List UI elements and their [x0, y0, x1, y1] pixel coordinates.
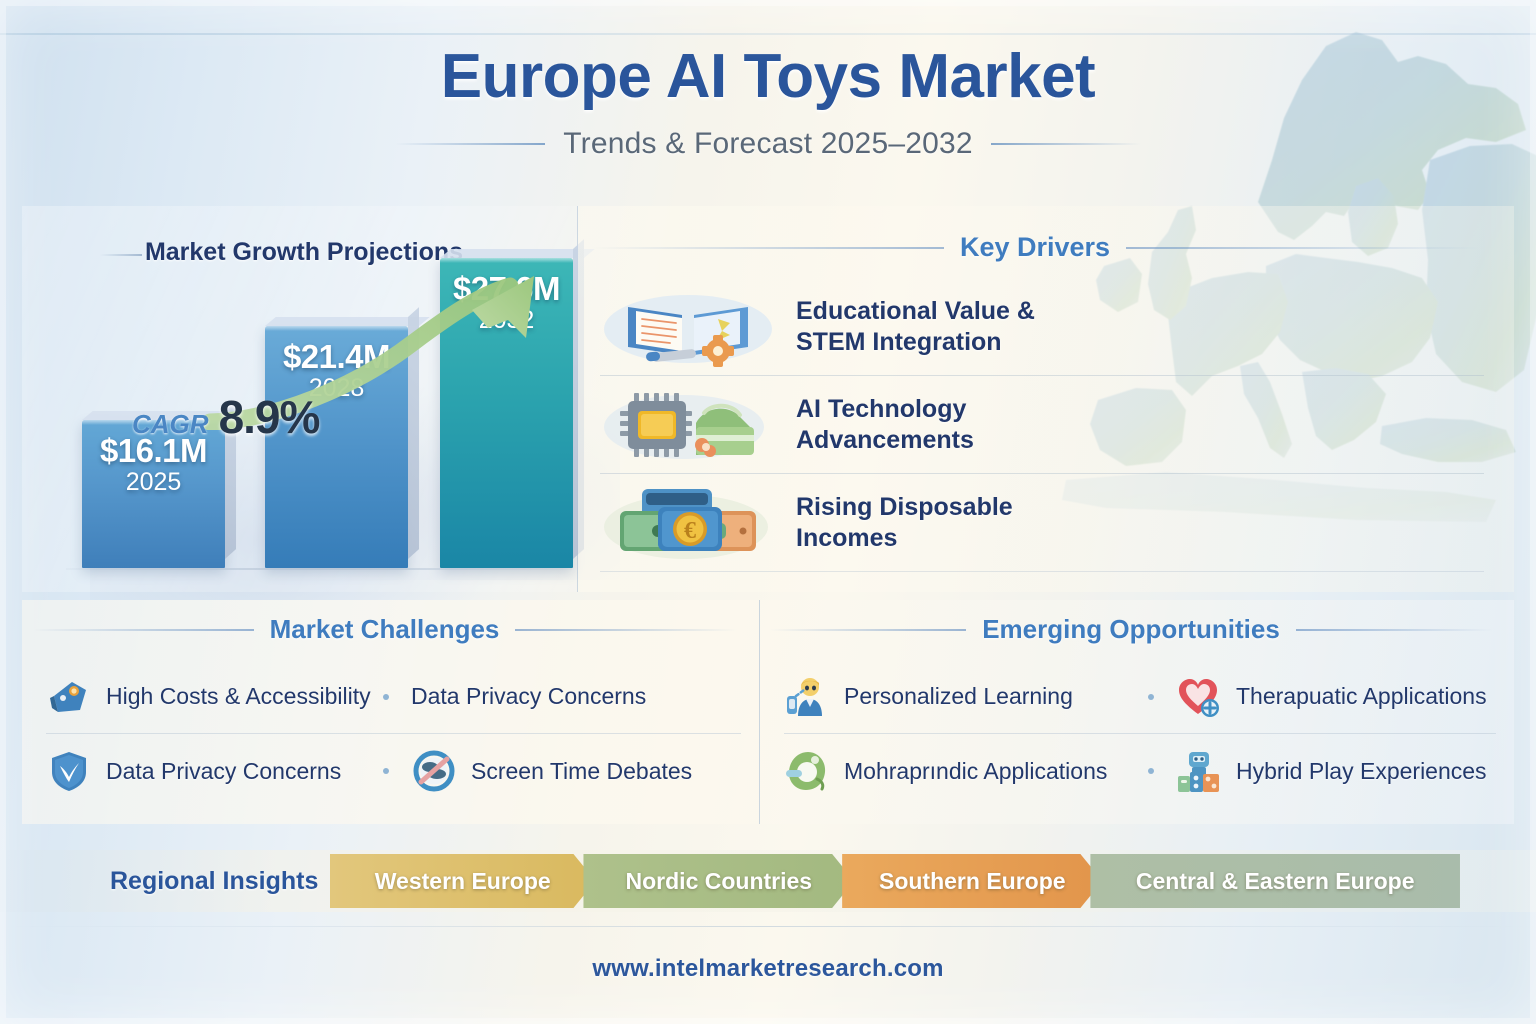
key-drivers-header: Key Drivers: [592, 232, 1478, 263]
opportunities-rule-right: [1296, 629, 1492, 631]
opportunity-label: Therapuatic Applications: [1236, 683, 1487, 710]
challenge-item-data-privacy-top: Data Privacy Concerns: [411, 683, 741, 710]
emerging-opportunities-header: Emerging Opportunities: [770, 614, 1492, 645]
driver-row: AI Technology Advancements: [600, 376, 1484, 474]
svg-text:€: €: [684, 518, 696, 544]
driver-label-line2: Incomes: [796, 523, 1013, 554]
subtitle-row: Trends & Forecast 2025–2032: [0, 127, 1536, 161]
shield-check-icon: [46, 748, 92, 794]
subtitle-rule-right: [991, 143, 1141, 145]
driver-label-line2: STEM Integration: [796, 327, 1035, 358]
regional-segment-label: Central & Eastern Europe: [1136, 868, 1415, 895]
challenges-rule-left: [32, 629, 254, 631]
key-drivers-list: Educational Value & STEM Integration: [600, 278, 1484, 572]
driver-label-line1: Rising Disposable: [796, 492, 1013, 523]
bar-top-face: [440, 249, 595, 258]
market-challenges-list: High Costs & Accessibility Data Privacy …: [46, 660, 741, 808]
challenge-item-screen-time: Screen Time Debates: [411, 748, 741, 794]
opportunity-item-mohraprindic: Mohraprındic Applications: [784, 748, 1107, 794]
driver-row: € Rising Disposable Incomes: [600, 474, 1484, 572]
driver-row: Educational Value & STEM Integration: [600, 278, 1484, 376]
challenge-item-data-privacy: Data Privacy Concerns: [46, 748, 341, 794]
drivers-rule-left: [592, 247, 944, 249]
driver-label-line1: AI Technology: [796, 394, 974, 425]
market-growth-panel: Market Growth Projections CAGR 8.9%: [22, 206, 578, 592]
regional-segment-label: Western Europe: [375, 868, 551, 895]
chart-baseline: [66, 568, 572, 570]
bar-highlight: [440, 258, 573, 263]
opportunity-item-personalized-learning: Personalized Learning: [784, 674, 1073, 720]
regional-insights-bar: Regional Insights Western Europe Nordic …: [0, 846, 1536, 916]
open-book-icon: [600, 285, 776, 369]
regional-segment-southern-europe[interactable]: Southern Europe: [842, 854, 1102, 908]
cagr-label: CAGR: [132, 409, 209, 440]
price-tag-icon: [46, 674, 92, 720]
footer-rule: [0, 926, 1536, 927]
emerging-opportunities-panel: Emerging Opportunities: [760, 600, 1514, 824]
cagr-value: 8.9%: [219, 390, 320, 444]
microchip-icon: [600, 383, 776, 467]
drivers-rule-right: [1126, 247, 1478, 249]
heart-plus-icon: [1176, 674, 1222, 720]
page-title: Europe AI Toys Market: [0, 44, 1536, 111]
dot-separator: [1148, 694, 1154, 700]
footer: www.intelmarketresearch.com: [0, 955, 1536, 983]
bar-year-2025: 2025: [82, 468, 225, 497]
footer-url[interactable]: www.intelmarketresearch.com: [592, 955, 943, 982]
driver-label-line1: Educational Value &: [796, 296, 1035, 327]
regional-segment-central-eastern-europe[interactable]: Central & Eastern Europe: [1090, 854, 1460, 908]
challenge-label: Screen Time Debates: [471, 758, 692, 785]
opportunities-rule-left: [770, 629, 966, 631]
opportunity-item-hybrid-play: Hybrid Play Experiences: [1176, 748, 1496, 794]
page-subtitle: Trends & Forecast 2025–2032: [563, 127, 973, 161]
header: Europe AI Toys Market Trends & Forecast …: [0, 44, 1536, 161]
challenges-rule-right: [515, 629, 737, 631]
dot-separator: [1148, 768, 1154, 774]
key-drivers-panel: Key Drivers: [578, 206, 1514, 592]
opportunity-row: Mohraprındic Applications: [784, 734, 1496, 808]
top-hairline: [0, 33, 1536, 35]
lower-section: Market Challenges: [22, 600, 1514, 824]
bar-chart: CAGR 8.9% $16.1M 2025: [22, 262, 578, 592]
challenge-row: High Costs & Accessibility Data Privacy …: [46, 660, 741, 734]
driver-label: Educational Value & STEM Integration: [796, 296, 1035, 357]
opportunity-item-therapeutic: Therapuatic Applications: [1176, 674, 1496, 720]
opportunity-label: Mohraprındic Applications: [844, 758, 1107, 785]
person-learning-icon: [784, 674, 830, 720]
market-challenges-header: Market Challenges: [32, 614, 737, 645]
opportunity-label: Personalized Learning: [844, 683, 1073, 710]
emerging-opportunities-list: Personalized Learning: [784, 660, 1496, 808]
challenge-label: High Costs & Accessibility: [106, 683, 371, 710]
regional-insights-label: Regional Insights: [110, 846, 318, 916]
cagr-annotation: CAGR 8.9%: [132, 390, 319, 444]
driver-label: Rising Disposable Incomes: [796, 492, 1013, 553]
market-challenges-panel: Market Challenges: [22, 600, 760, 824]
dot-separator: [383, 768, 389, 774]
challenge-item-high-costs: High Costs & Accessibility: [46, 674, 371, 720]
key-drivers-title: Key Drivers: [960, 232, 1110, 263]
regional-segment-western-europe[interactable]: Western Europe: [330, 854, 595, 908]
challenge-label: Data Privacy Concerns: [411, 683, 646, 710]
challenge-label: Data Privacy Concerns: [106, 758, 341, 785]
subtitle-rule-left: [395, 143, 545, 145]
no-screen-icon: [411, 748, 457, 794]
dot-separator: [383, 694, 389, 700]
market-challenges-title: Market Challenges: [270, 614, 500, 645]
robot-blocks-icon: [1176, 748, 1222, 794]
opportunity-row: Personalized Learning: [784, 660, 1496, 734]
driver-label-line2: Advancements: [796, 425, 974, 456]
green-blob-icon: [784, 748, 830, 794]
regional-segment-label: Nordic Countries: [626, 868, 813, 895]
challenge-row: Data Privacy Concerns: [46, 734, 741, 808]
emerging-opportunities-title: Emerging Opportunities: [982, 614, 1280, 645]
wallet-euro-icon: €: [600, 481, 776, 565]
opportunity-label: Hybrid Play Experiences: [1236, 758, 1487, 785]
regional-segments: Western Europe Nordic Countries Southern…: [330, 854, 1460, 908]
regional-segment-label: Southern Europe: [879, 868, 1066, 895]
upper-section: Market Growth Projections CAGR 8.9%: [22, 206, 1514, 592]
driver-label: AI Technology Advancements: [796, 394, 974, 455]
regional-segment-nordic-countries[interactable]: Nordic Countries: [583, 854, 854, 908]
